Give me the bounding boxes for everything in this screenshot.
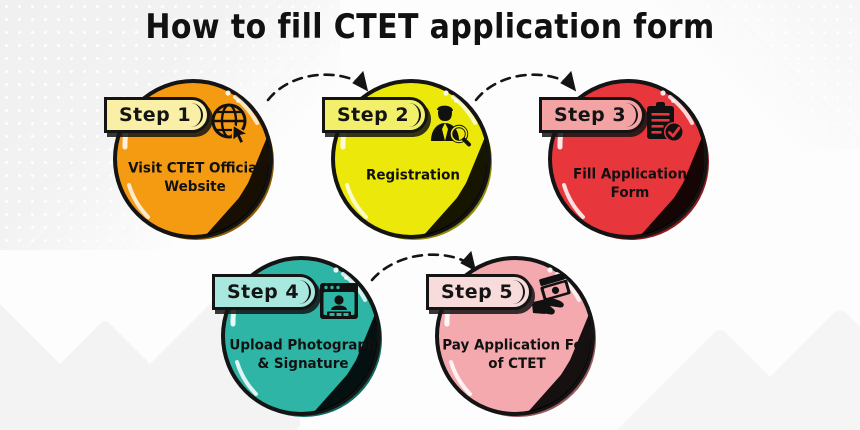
arrow-step3-to-step4 — [250, 238, 280, 268]
step-5-caption: Pay Application Fee of CTET — [442, 337, 592, 373]
arrow-step2-to-step3 — [470, 64, 590, 114]
step-4-badge[interactable]: Step 4 — [212, 274, 318, 310]
user-search-icon — [426, 101, 472, 147]
step-1-badge[interactable]: Step 1 — [104, 97, 210, 133]
clipboard-check-icon — [641, 99, 687, 145]
step-1-caption: Visit CTET Official Website — [120, 160, 270, 196]
step-3-caption: Fill Application Form — [555, 166, 705, 202]
photo-upload-window-icon — [316, 278, 362, 324]
step-2-caption: Registration — [338, 166, 488, 184]
arrow-step1-to-step2 — [262, 66, 382, 116]
step-4[interactable]: Step 4 Upload Photograph & Signature — [218, 252, 388, 422]
infographic-canvas: How to fill CTET application form S — [0, 0, 860, 430]
arrow-step4-to-step5 — [366, 244, 491, 294]
hand-cash-icon — [530, 274, 576, 320]
step-4-caption: Upload Photograph & Signature — [228, 337, 378, 373]
page-title: How to fill CTET application form — [0, 8, 860, 47]
step-4-badge-label: Step 4 — [227, 281, 299, 303]
globe-cursor-icon — [208, 101, 254, 147]
step-1-badge-label: Step 1 — [119, 104, 191, 126]
step-1[interactable]: Step 1 Visit CTET Official Website — [110, 75, 280, 245]
background-chevron-bottom-right — [600, 270, 860, 430]
